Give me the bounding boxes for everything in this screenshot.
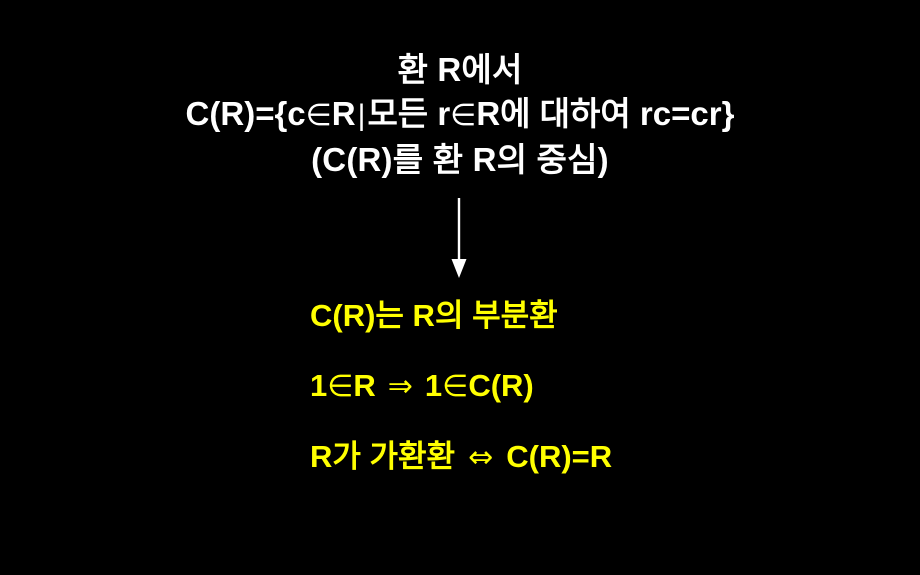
- conclusion-subring: C(R)는 R의 부분환: [310, 298, 870, 334]
- set-builder-ring-1: R: [332, 95, 356, 132]
- implies-icon: ⇒: [376, 369, 425, 404]
- definition-line-heading: 환 R에서: [0, 48, 920, 92]
- iff-icon: ⇔: [455, 440, 506, 475]
- definition-line-set-builder: C(R)={c∈R|모든 r∈R에 대하여 rc=cr}: [0, 92, 920, 138]
- down-arrow-icon: [444, 196, 474, 280]
- unity-lhs-element: 1: [310, 368, 327, 403]
- commutative-lhs: R가 가환환: [310, 439, 455, 474]
- such-that-bar-icon: |: [356, 99, 368, 132]
- definition-block: 환 R에서 C(R)={c∈R|모든 r∈R에 대하여 rc=cr} (C(R)…: [0, 48, 920, 182]
- unity-lhs-ring: R: [353, 368, 375, 403]
- element-of-icon-3: ∈: [327, 369, 353, 404]
- conclusion-unity: 1∈R⇒1∈C(R): [310, 368, 870, 405]
- unity-rhs-element: 1: [425, 368, 442, 403]
- element-of-icon: ∈: [306, 98, 332, 133]
- unity-rhs-center: C(R): [468, 368, 533, 403]
- set-builder-prefix: C(R)={c: [186, 95, 306, 132]
- element-of-icon-2: ∈: [450, 98, 476, 133]
- element-of-icon-4: ∈: [442, 369, 468, 404]
- definition-line-center-note: (C(R)를 환 R의 중심): [0, 138, 920, 182]
- set-builder-condition: R에 대하여 rc=cr}: [476, 95, 734, 132]
- set-builder-quantifier: 모든 r: [367, 95, 450, 132]
- conclusion-block: C(R)는 R의 부분환 1∈R⇒1∈C(R) R가 가환환⇔C(R)=R: [310, 298, 870, 476]
- conclusion-commutative: R가 가환환⇔C(R)=R: [310, 439, 870, 476]
- slide-canvas: 환 R에서 C(R)={c∈R|모든 r∈R에 대하여 rc=cr} (C(R)…: [0, 0, 920, 575]
- commutative-rhs: C(R)=R: [506, 439, 612, 474]
